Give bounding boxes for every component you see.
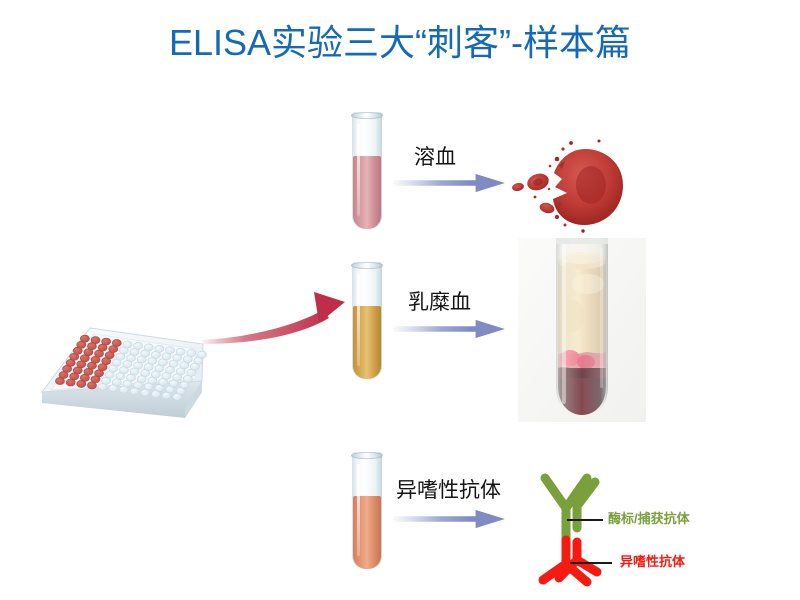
leader-line-capture <box>567 519 603 521</box>
arrow-hemolysis <box>388 172 510 194</box>
sample-tube-chylous <box>352 262 382 380</box>
antibody-interference-diagram <box>525 468 625 588</box>
slide-canvas: ELISA实验三大“刺客”-样本篇 <box>0 0 800 600</box>
well-empty <box>166 347 175 354</box>
tube-shine <box>357 124 360 216</box>
antibody-label-heterophilic: 异嗜性抗体 <box>620 554 685 570</box>
tube-glass <box>352 112 382 230</box>
arrow-heterophilic <box>388 508 510 530</box>
page-title: ELISA实验三大“刺客”-样本篇 <box>0 20 800 66</box>
antibody-label-capture: 酶标/捕获抗体 <box>608 511 690 527</box>
ruptured-red-blood-cell-illustration <box>505 135 640 235</box>
plate-to-tube-arrow <box>195 282 365 362</box>
well-empty <box>123 341 132 348</box>
tube-glass <box>352 262 382 380</box>
microplate <box>20 280 220 420</box>
well-empty <box>155 345 164 352</box>
heterophilic-antibody-icon <box>543 540 597 582</box>
well-filled <box>80 335 89 342</box>
tube-shine <box>357 274 360 366</box>
tube-rim <box>351 112 383 119</box>
well-empty <box>144 344 153 351</box>
well-filled <box>102 338 111 345</box>
tube-glass <box>352 452 382 570</box>
well-empty <box>176 348 185 355</box>
chylous-blood-tube-photo <box>518 238 646 422</box>
capture-antibody-icon <box>545 478 595 546</box>
well-filled <box>112 340 121 347</box>
sample-tube-hemolysis <box>352 112 382 230</box>
tube-rim <box>351 452 383 459</box>
well-empty <box>134 342 143 349</box>
step-label-chylous: 乳糜血 <box>408 290 471 316</box>
tube-rim <box>351 262 383 269</box>
well-filled <box>91 337 100 344</box>
step-label-heterophilic: 异嗜性抗体 <box>396 478 501 504</box>
microplate-graphic <box>20 280 220 420</box>
arrow-chylous <box>388 318 510 340</box>
step-label-hemolysis: 溶血 <box>414 145 456 171</box>
leader-line-heterophilic <box>570 562 612 564</box>
tube-shine <box>357 464 360 556</box>
sample-tube-heterophilic <box>352 452 382 570</box>
